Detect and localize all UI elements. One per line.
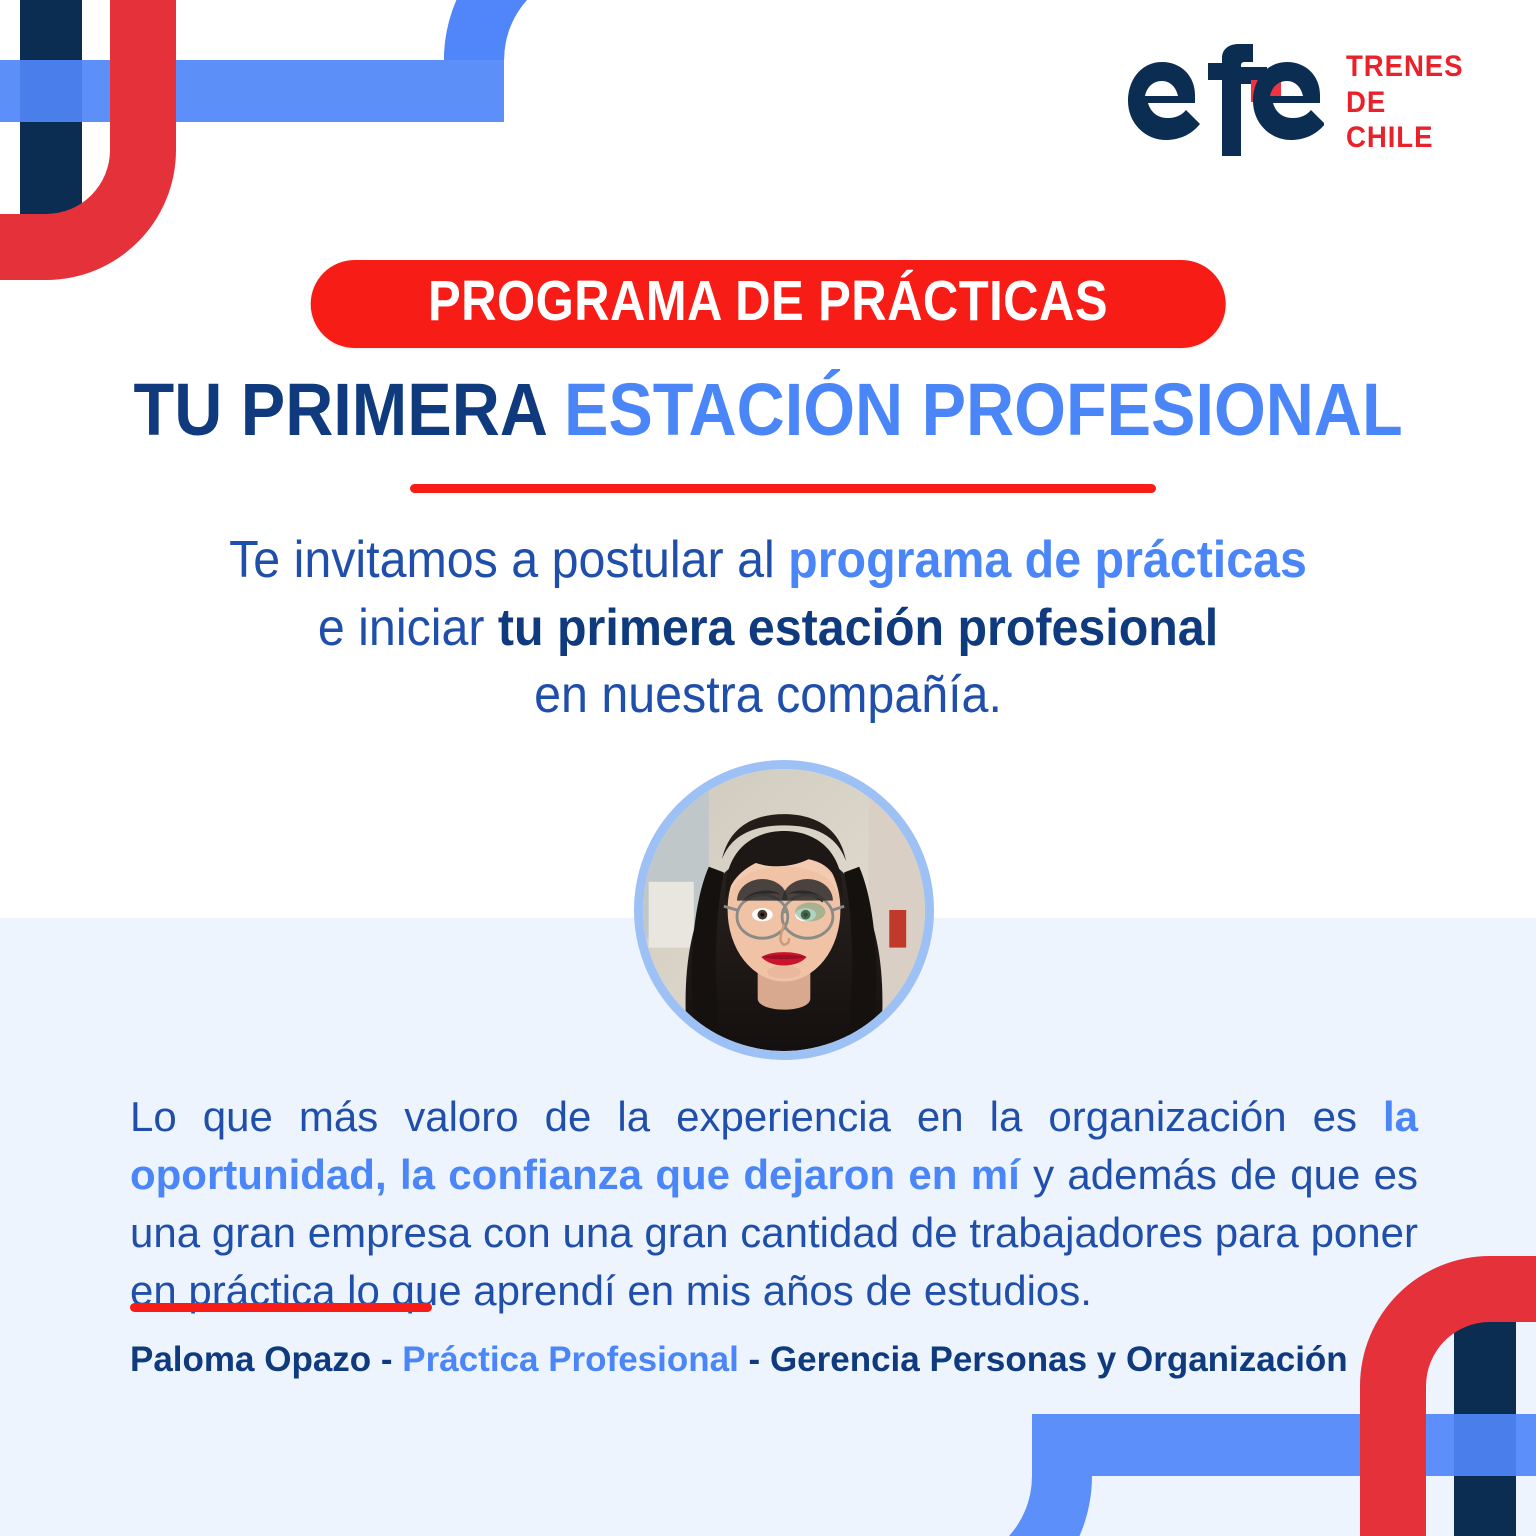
avatar bbox=[634, 760, 934, 1060]
poster-canvas: TRENES DE CHILE PROGRAMA DE PRÁCTICAS TU… bbox=[0, 0, 1536, 1536]
intro-line-2-emphasis: tu primera estación profesional bbox=[498, 599, 1218, 657]
portrait-photo bbox=[643, 769, 925, 1051]
intro-line-1-plain: Te invitamos a postular al bbox=[229, 531, 788, 589]
program-badge-label: PROGRAMA DE PRÁCTICAS bbox=[428, 272, 1108, 332]
page-title: TU PRIMERA ESTACIÓN PROFESIONAL bbox=[0, 370, 1536, 450]
headline-divider bbox=[410, 484, 1156, 493]
testimonial-part-1: Lo que más valoro de la experiencia en l… bbox=[130, 1093, 1383, 1140]
efe-wordmark-icon bbox=[1126, 44, 1324, 161]
testimonial-byline: Paloma Opazo - Práctica Profesional - Ge… bbox=[130, 1340, 1348, 1380]
blue-band-icon bbox=[942, 1414, 1536, 1536]
byline-name: Paloma Opazo bbox=[130, 1340, 371, 1379]
intro-line-2: e iniciar tu primera estación profesiona… bbox=[54, 595, 1482, 663]
efe-logo-subtext: TRENES DE CHILE bbox=[1346, 49, 1474, 155]
blue-band-arc-icon bbox=[444, 0, 594, 60]
intro-line-1: Te invitamos a postular al programa de p… bbox=[54, 527, 1482, 595]
byline-sep-2: - bbox=[739, 1340, 770, 1379]
byline-area: Gerencia Personas y Organización bbox=[770, 1340, 1348, 1379]
intro-line-2-plain: e iniciar bbox=[318, 599, 498, 657]
headline-part-1: TU PRIMERA bbox=[133, 368, 563, 451]
testimonial-divider bbox=[130, 1303, 432, 1312]
headline-part-2: ESTACIÓN PROFESIONAL bbox=[564, 368, 1403, 451]
intro-line-3: en nuestra compañía. bbox=[54, 662, 1482, 730]
intro-paragraph: Te invitamos a postular al programa de p… bbox=[0, 527, 1536, 730]
byline-sep-1: - bbox=[371, 1340, 402, 1379]
logo-line-3: CHILE bbox=[1346, 120, 1463, 155]
program-badge: PROGRAMA DE PRÁCTICAS bbox=[311, 260, 1226, 348]
intro-line-1-emphasis: programa de prácticas bbox=[788, 531, 1307, 589]
efe-logo[interactable]: TRENES DE CHILE bbox=[1126, 44, 1474, 161]
byline-role: Práctica Profesional bbox=[402, 1340, 739, 1379]
testimonial-text: Lo que más valoro de la experiencia en l… bbox=[130, 1088, 1418, 1320]
logo-line-2: DE bbox=[1346, 85, 1463, 120]
logo-line-1: TRENES bbox=[1346, 49, 1463, 84]
